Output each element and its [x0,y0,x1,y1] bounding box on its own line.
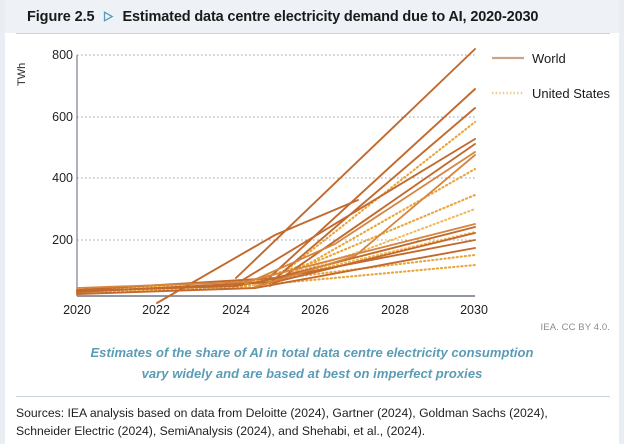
sources-divider [16,396,610,397]
sources-note: Sources: IEA analysis based on data from… [16,404,610,440]
figure-container: Figure 2.5 Estimated data centre electri… [0,0,624,444]
figure-caption: Estimates of the share of AI in total da… [5,342,619,384]
legend-label-world: World [532,51,566,66]
series-united-states [77,122,475,293]
right-edge-rail [619,0,624,444]
world-line-m [245,152,475,284]
legend-swatch-world-icon [492,53,524,63]
gridlines [77,55,475,240]
world-line-b [270,89,475,277]
figure-title-bar: Figure 2.5 Estimated data centre electri… [5,0,619,33]
legend-swatch-united-states-icon [492,88,524,98]
caption-line-1: Estimates of the share of AI in total da… [90,345,533,360]
chart-legend: World United States [492,47,617,117]
triangle-right-icon [103,11,114,22]
caption-line-2: vary widely and are based at best on imp… [142,366,483,381]
chart-area: TWh 800 600 400 200 2020 2022 2024 2026 … [5,34,619,330]
legend-item-united-states[interactable]: United States [492,82,617,104]
legend-item-world[interactable]: World [492,47,617,69]
legend-label-united-states: United States [532,86,610,101]
sources-line-2: Schneider Electric (2024), SemiAnalysis … [16,422,610,440]
series-world [77,49,475,303]
figure-number: Figure 2.5 [27,9,95,25]
world-line-a [236,49,475,278]
figure-title: Estimated data centre electricity demand… [123,9,539,25]
license-credit: IEA. CC BY 4.0. [541,322,610,333]
sources-line-1: Sources: IEA analysis based on data from… [16,406,548,420]
series-world-light [77,152,475,288]
